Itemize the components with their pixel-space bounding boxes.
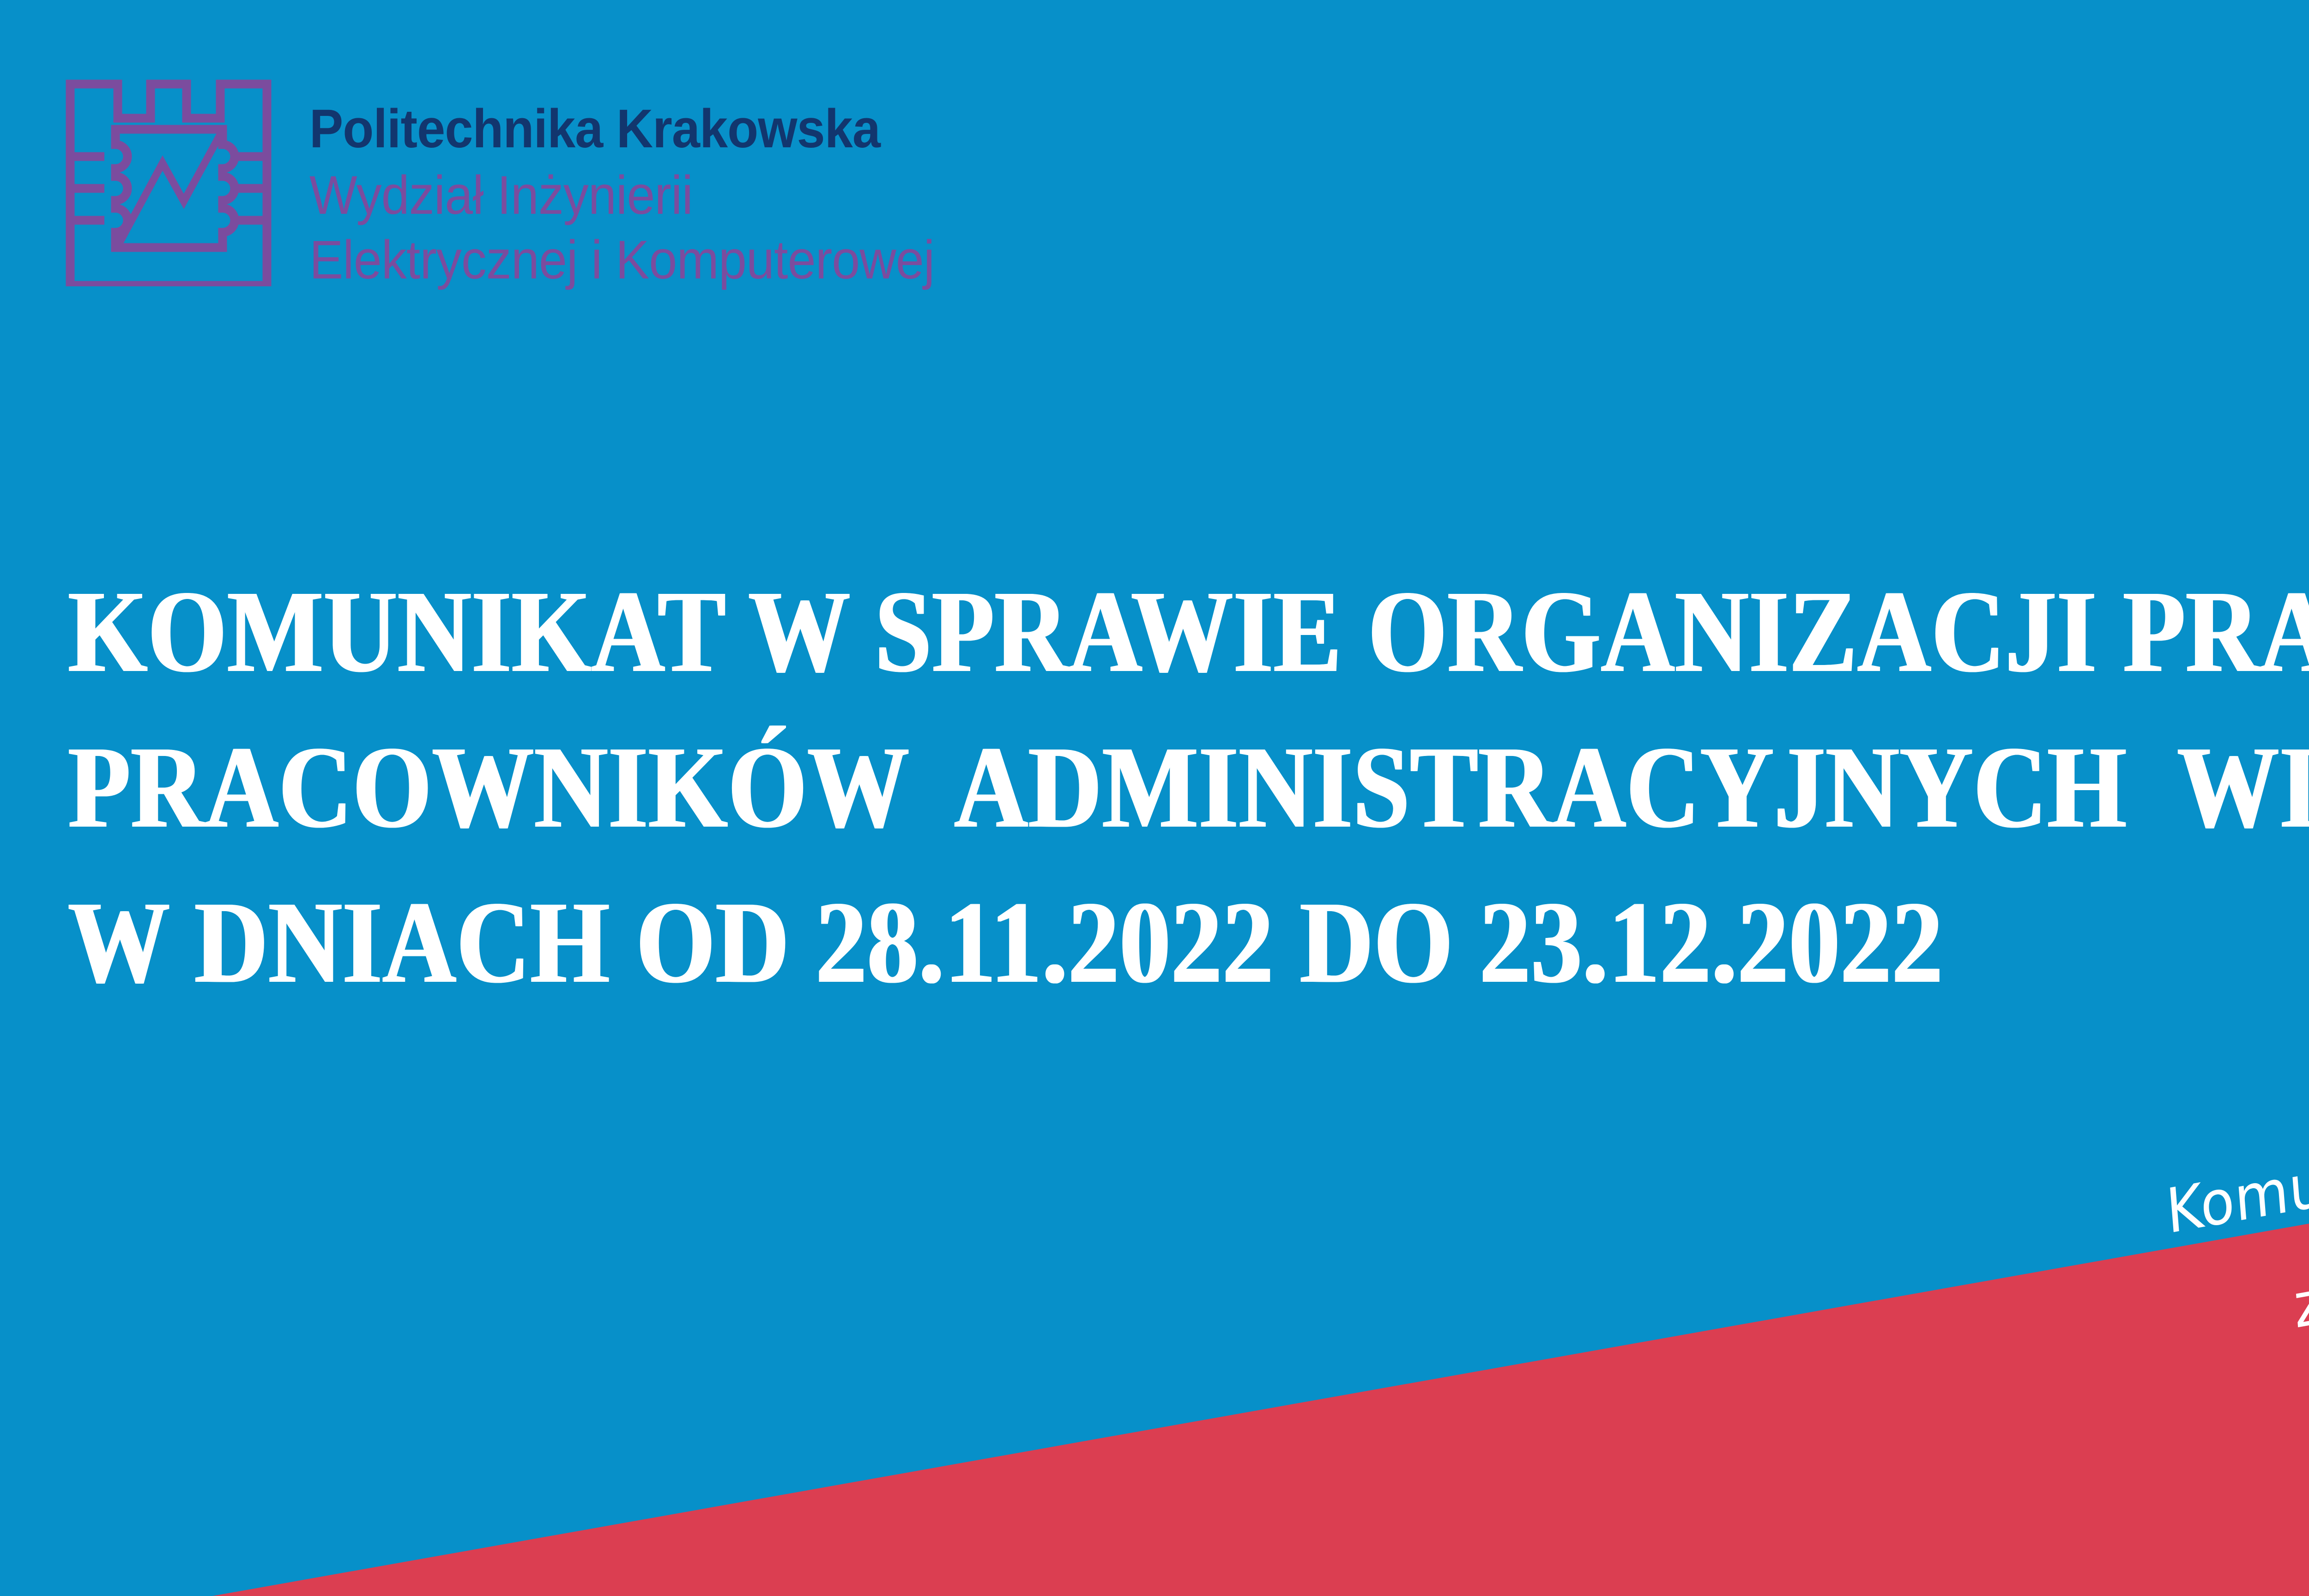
logo-line-wydzial-inzynierii: Wydział Inżynierii [309, 168, 934, 223]
poster-canvas: Politechnika Krakowska Wydział Inżynieri… [0, 0, 2309, 1596]
headline-line-3: W DNIACH OD 28.11.2022 DO 23.12.2022 [68, 865, 2309, 1021]
logo-wordmark: Politechnika Krakowska Wydział Inżynieri… [309, 69, 981, 297]
banner-line-komunikat-nr: Komunikat nr 17 Dziekana WIEiK [2164, 1020, 2309, 1243]
headline-block: KOMUNIKAT W SPRAWIE ORGANIZACJI PRACY PR… [68, 554, 2309, 1021]
headline-line-1: KOMUNIKAT W SPRAWIE ORGANIZACJI PRACY [68, 554, 2309, 710]
logo-line-elektrycznej-i-komputerowej: Elektrycznej i Komputerowej [309, 233, 934, 287]
logo-line-politechnika-krakowska: Politechnika Krakowska [309, 102, 934, 156]
pk-castle-chip-logo-icon [60, 69, 277, 286]
headline-line-2: PRACOWNIKÓW ADMINISTRACYJNYCH WIEIK [68, 710, 2309, 865]
banner-text-block: Komunikat nr 17 Dziekana WIEiK z dnia 28… [2161, 1006, 2309, 1356]
university-logo-block: Politechnika Krakowska Wydział Inżynieri… [60, 69, 981, 297]
